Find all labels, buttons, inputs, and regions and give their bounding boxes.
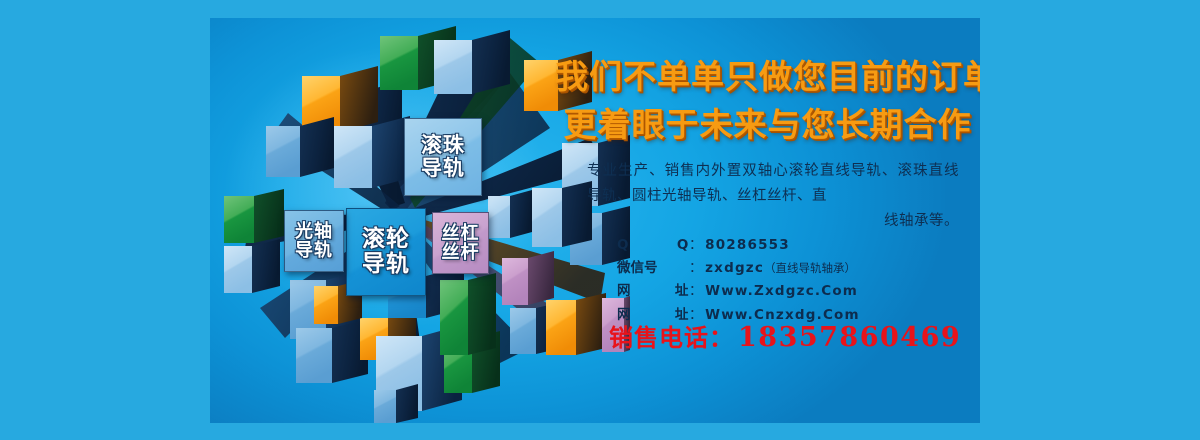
website-1-label: 网 址 [617, 280, 689, 303]
company-description: 专业生产、销售内外置双轴心滚轮直线导轨、滚珠直线导轨、圆柱光轴导轨、丝杠丝杆、直… [587, 159, 959, 234]
website-1-label-char1: 网 [617, 280, 631, 303]
qq-value: 80286553 [705, 234, 790, 257]
label-line-2: 丝杆 [442, 243, 480, 262]
label-line-1: 光轴 [295, 222, 333, 241]
qq-separator: ： [689, 234, 703, 257]
product-label-lead-screw: 丝杠 丝杆 [432, 212, 489, 274]
contact-row-website-1: 网 址 ： Www.Zxdgzc.Com [617, 280, 860, 303]
promo-banner: 滚珠 导轨 滚轮 导轨 光轴 导轨 丝杠 丝杆 我们不单单只做您目前的订单 更着… [210, 18, 980, 423]
qq-label: Q Q [617, 234, 689, 257]
product-label-shaft-guide: 光轴 导轨 [284, 210, 344, 272]
label-line-2: 导轨 [421, 157, 465, 180]
contact-row-qq: Q Q ： 80286553 [617, 234, 860, 257]
headline-line-1: 我们不单单只做您目前的订单 [555, 50, 980, 98]
product-label-ball-guide: 滚珠 导轨 [404, 118, 482, 196]
label-line-1: 滚轮 [362, 227, 410, 252]
label-line-2: 导轨 [362, 252, 410, 277]
headline-line-2: 更着眼于未来与您长期合作 [555, 98, 980, 146]
contact-block: Q Q ： 80286553 微信号 ： zxdgzc （直线导轨轴承） 网 址… [617, 234, 860, 327]
description-line-1: 专业生产、销售内外置双轴心滚轮直线导轨、 [587, 163, 897, 179]
qq-label-char1: Q [617, 234, 629, 257]
contact-row-wechat: 微信号 ： zxdgzc （直线导轨轴承） [617, 257, 860, 280]
website-1-value[interactable]: Www.Zxdgzc.Com [705, 280, 858, 303]
website-1-separator: ： [689, 280, 703, 303]
description-line-3: 线轴承等。 [587, 209, 959, 234]
wechat-label: 微信号 [617, 257, 689, 280]
label-line-1: 滚珠 [421, 134, 465, 157]
wechat-separator: ： [689, 257, 703, 280]
product-label-roller-guide: 滚轮 导轨 [346, 208, 426, 296]
label-line-2: 导轨 [295, 241, 333, 260]
text-panel: 我们不单单只做您目前的订单 更着眼于未来与您长期合作 专业生产、销售内外置双轴心… [555, 18, 980, 423]
wechat-value: zxdgzc [705, 257, 764, 280]
label-line-1: 丝杠 [442, 224, 480, 243]
sales-phone-number: 18357860469 [738, 322, 961, 353]
qq-label-char2: Q [677, 234, 689, 257]
sales-phone: 销售电话： 18357860469 [609, 318, 961, 353]
website-1-label-char2: 址 [675, 280, 689, 303]
sales-phone-label: 销售电话： [609, 318, 734, 353]
wechat-note: （直线导轨轴承） [764, 259, 856, 279]
